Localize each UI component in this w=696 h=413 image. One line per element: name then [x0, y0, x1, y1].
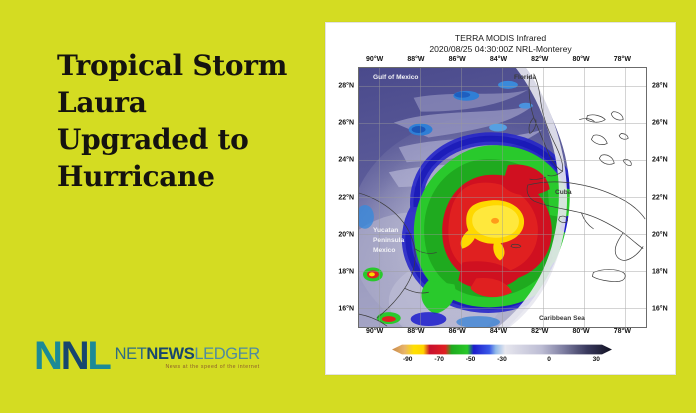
satellite-figure-card: TERRA MODIS Infrared 2020/08/25 04:30:00…	[325, 22, 676, 375]
logo-word-news: NEWS	[146, 345, 194, 363]
page-title: Tropical Storm Laura Upgraded to Hurrica…	[57, 48, 307, 196]
lat-tick-label: 28°N	[652, 82, 676, 89]
lat-tick-label: 24°N	[652, 157, 676, 164]
logo-letter-l: L	[87, 339, 109, 373]
logo-word-ledger: LEDGER	[194, 345, 259, 363]
logo-tagline: News at the speed of the internet	[115, 364, 260, 370]
lon-tick-label: 80°W	[572, 56, 589, 63]
colorbar-tick-label: -50	[466, 356, 476, 363]
lon-tick-label: 90°W	[366, 56, 383, 63]
lon-tick-label: 78°W	[614, 56, 631, 63]
colorbar-tick-label: -90	[403, 356, 413, 363]
latitude-axis-left: 28°N26°N24°N22°N20°N18°N16°N	[332, 67, 356, 328]
longitude-axis-top: 90°W88°W86°W84°W82°W80°W78°W	[354, 56, 651, 67]
colorbar-tick-label: 30	[593, 356, 600, 363]
lat-tick-label: 16°N	[652, 306, 676, 313]
longitude-axis-bottom: 90°W88°W86°W84°W82°W80°W78°W	[354, 328, 651, 339]
lat-tick-label: 26°N	[652, 119, 676, 126]
figure-title: TERRA MODIS Infrared	[332, 33, 669, 43]
lat-tick-label: 24°N	[330, 157, 354, 164]
logo-mark: N N L	[34, 339, 110, 373]
colorbar-tick-label: 0	[547, 356, 551, 363]
lon-tick-label: 86°W	[449, 56, 466, 63]
lon-tick-label: 82°W	[531, 328, 548, 335]
infrared-satellite-map: Gulf of MexicoFloridaCubaYucatanPeninsul…	[358, 67, 647, 328]
latitude-axis-right: 28°N26°N24°N22°N20°N18°N16°N	[649, 67, 673, 328]
lat-tick-label: 16°N	[330, 306, 354, 313]
logo-letter-n2: N	[61, 339, 88, 373]
lat-tick-label: 18°N	[330, 269, 354, 276]
logo-word-net: NET	[115, 345, 147, 363]
lon-tick-label: 88°W	[407, 56, 424, 63]
lon-tick-label: 90°W	[366, 328, 383, 335]
lon-tick-label: 84°W	[490, 328, 507, 335]
map-svg	[359, 68, 646, 327]
lat-tick-label: 26°N	[330, 119, 354, 126]
lat-tick-label: 22°N	[330, 194, 354, 201]
lon-tick-label: 88°W	[407, 328, 424, 335]
lat-tick-label: 22°N	[652, 194, 676, 201]
figure-subtitle: 2020/08/25 04:30:00Z NRL-Monterey	[332, 44, 669, 54]
lat-tick-label: 18°N	[652, 269, 676, 276]
colorbar-gradient	[392, 344, 612, 355]
colorbar-tick-label: -30	[497, 356, 507, 363]
figure-inner: TERRA MODIS Infrared 2020/08/25 04:30:00…	[332, 29, 669, 368]
colorbar: -90-70-50-30030	[392, 344, 612, 366]
lon-tick-label: 78°W	[614, 328, 631, 335]
lat-tick-label: 20°N	[652, 231, 676, 238]
logo-wordmark: NETNEWSLEDGER	[115, 346, 260, 363]
promo-panel: Tropical Storm Laura Upgraded to Hurrica…	[0, 0, 325, 413]
lon-tick-label: 84°W	[490, 56, 507, 63]
logo-letter-n1: N	[34, 339, 61, 373]
lat-tick-label: 28°N	[330, 82, 354, 89]
site-logo[interactable]: N N L NETNEWSLEDGER News at the speed of…	[34, 339, 260, 373]
lon-tick-label: 86°W	[449, 328, 466, 335]
lon-tick-label: 82°W	[531, 56, 548, 63]
logo-wordmark-wrap: NETNEWSLEDGER News at the speed of the i…	[115, 346, 260, 374]
lat-tick-label: 20°N	[330, 231, 354, 238]
lon-tick-label: 80°W	[572, 328, 589, 335]
colorbar-tick-label: -70	[434, 356, 444, 363]
colorbar-ticks: -90-70-50-30030	[392, 356, 612, 366]
